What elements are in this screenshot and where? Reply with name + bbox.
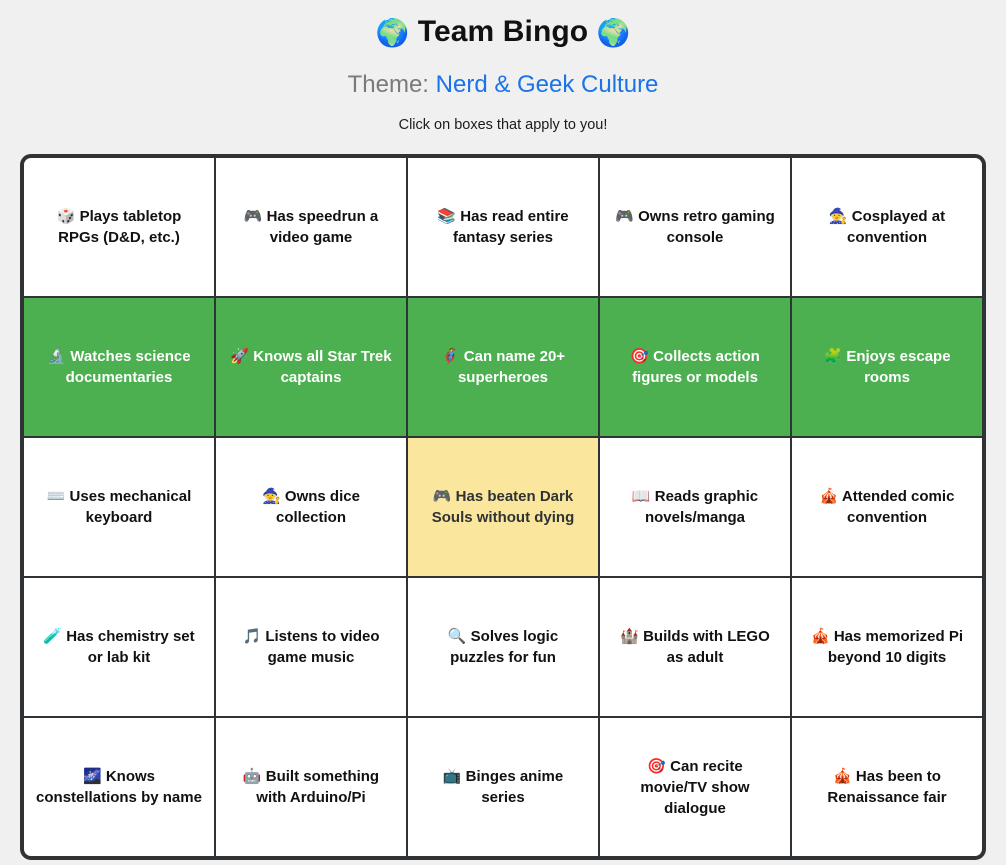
bingo-cell-label: 🧙 Owns dice collection <box>228 486 394 528</box>
bingo-cell-label: 🧩 Enjoys escape rooms <box>804 346 970 388</box>
bingo-cell-text: Knows constellations by name <box>36 768 202 806</box>
bingo-cell-text: Plays tabletop RPGs (D&D, etc.) <box>58 208 181 246</box>
bingo-cell[interactable]: 📺 Binges anime series <box>408 718 598 856</box>
bingo-cell[interactable]: 🎯 Can recite movie/TV show dialogue <box>600 718 790 856</box>
bingo-cell-label: 🎯 Collects action figures or models <box>612 346 778 388</box>
bingo-cell-text: Cosplayed at convention <box>847 208 945 246</box>
bingo-cell-label: 📖 Reads graphic novels/manga <box>612 486 778 528</box>
circus-tent-icon: 🎪 <box>811 628 830 645</box>
bingo-cell[interactable]: 🔬 Watches science documentaries <box>24 298 214 436</box>
bingo-cell[interactable]: 🎮 Has beaten Dark Souls without dying <box>408 438 598 576</box>
video-game-controller-icon: 🎮 <box>433 488 452 505</box>
mage-icon: 🧙 <box>262 488 281 505</box>
keyboard-icon: ⌨️ <box>47 488 66 505</box>
bingo-cell-text: Enjoys escape rooms <box>846 348 950 386</box>
television-icon: 📺 <box>443 768 462 785</box>
bingo-cell-label: 🤖 Built something with Arduino/Pi <box>228 766 394 808</box>
page-title-text: Team Bingo <box>418 15 588 48</box>
bingo-cell-label: ⌨️ Uses mechanical keyboard <box>36 486 202 528</box>
globe-icon-right: 🌍 <box>597 18 631 48</box>
board-container: 🎲 Plays tabletop RPGs (D&D, etc.)🎮 Has s… <box>20 154 986 860</box>
bingo-cell[interactable]: 🎮 Has speedrun a video game <box>216 158 406 296</box>
circus-tent-icon: 🎪 <box>833 768 852 785</box>
video-game-controller-icon: 🎮 <box>615 208 634 225</box>
bingo-cell-label: 🎮 Owns retro gaming console <box>612 206 778 248</box>
theme-line: Theme: Nerd & Geek Culture <box>348 51 659 99</box>
magnifying-glass-icon: 🔍 <box>448 628 467 645</box>
bingo-cell-text: Collects action figures or models <box>632 348 760 386</box>
bingo-cell[interactable]: 🚀 Knows all Star Trek captains <box>216 298 406 436</box>
video-game-controller-icon: 🎮 <box>244 208 263 225</box>
bingo-cell-label: 🔍 Solves logic puzzles for fun <box>420 626 586 668</box>
bingo-cell-text: Watches science documentaries <box>66 348 191 386</box>
bingo-cell-label: 🚀 Knows all Star Trek captains <box>228 346 394 388</box>
bingo-cell[interactable]: 🎪 Attended comic convention <box>792 438 982 576</box>
castle-icon: 🏰 <box>620 628 639 645</box>
bingo-cell[interactable]: 📖 Reads graphic novels/manga <box>600 438 790 576</box>
bingo-cell-text: Listens to video game music <box>265 628 379 666</box>
books-icon: 📚 <box>437 208 456 225</box>
bingo-cell-text: Has read entire fantasy series <box>453 208 569 246</box>
bingo-cell[interactable]: 🧙 Cosplayed at convention <box>792 158 982 296</box>
bingo-cell[interactable]: 📚 Has read entire fantasy series <box>408 158 598 296</box>
bingo-cell-text: Binges anime series <box>466 768 564 806</box>
test-tube-icon: 🧪 <box>43 628 62 645</box>
bingo-cell[interactable]: 🎪 Has memorized Pi beyond 10 digits <box>792 578 982 716</box>
musical-note-icon: 🎵 <box>242 628 261 645</box>
bingo-cell-text: Builds with LEGO as adult <box>643 628 770 666</box>
microscope-icon: 🔬 <box>47 348 66 365</box>
bingo-cell-text: Reads graphic novels/manga <box>645 488 758 526</box>
bingo-cell-label: 🎵 Listens to video game music <box>228 626 394 668</box>
page-title: 🌍 Team Bingo 🌍 <box>376 0 631 51</box>
bingo-cell-text: Built something with Arduino/Pi <box>256 768 379 806</box>
bingo-cell-text: Has beaten Dark Souls without dying <box>432 488 575 526</box>
bingo-cell-label: 🎯 Can recite movie/TV show dialogue <box>612 756 778 819</box>
bingo-cell[interactable]: 🏰 Builds with LEGO as adult <box>600 578 790 716</box>
milky-way-icon: 🌌 <box>83 768 102 785</box>
bingo-cell[interactable]: 🎯 Collects action figures or models <box>600 298 790 436</box>
bingo-cell-text: Attended comic convention <box>842 488 955 526</box>
globe-icon-left: 🌍 <box>376 18 410 48</box>
rocket-icon: 🚀 <box>230 348 249 365</box>
mage-icon: 🧙 <box>829 208 848 225</box>
bingo-cell-text: Owns retro gaming console <box>638 208 775 246</box>
robot-icon: 🤖 <box>243 768 262 785</box>
bingo-cell-text: Knows all Star Trek captains <box>253 348 391 386</box>
instruction-text: Click on boxes that apply to you! <box>399 99 608 134</box>
bingo-cell-label: 🎮 Has speedrun a video game <box>228 206 394 248</box>
bingo-cell-label: 🎲 Plays tabletop RPGs (D&D, etc.) <box>36 206 202 248</box>
theme-label: Theme: <box>348 71 429 98</box>
bingo-cell-label: 🎪 Has memorized Pi beyond 10 digits <box>804 626 970 668</box>
bingo-cell-text: Uses mechanical keyboard <box>70 488 192 526</box>
bingo-cell[interactable]: 🎵 Listens to video game music <box>216 578 406 716</box>
bingo-board: 🎲 Plays tabletop RPGs (D&D, etc.)🎮 Has s… <box>20 154 986 860</box>
bingo-cell-text: Owns dice collection <box>276 488 360 526</box>
game-die-icon: 🎲 <box>57 208 76 225</box>
circus-tent-icon: 🎪 <box>820 488 839 505</box>
bingo-cell[interactable]: 🔍 Solves logic puzzles for fun <box>408 578 598 716</box>
bingo-cell-label: 🎪 Has been to Renaissance fair <box>804 766 970 808</box>
puzzle-piece-icon: 🧩 <box>823 348 842 365</box>
bingo-cell-text: Solves logic puzzles for fun <box>450 628 558 666</box>
bingo-cell[interactable]: 🧪 Has chemistry set or lab kit <box>24 578 214 716</box>
bingo-cell-label: 🔬 Watches science documentaries <box>36 346 202 388</box>
bingo-cell-label: 🧙 Cosplayed at convention <box>804 206 970 248</box>
bingo-cell[interactable]: 🎲 Plays tabletop RPGs (D&D, etc.) <box>24 158 214 296</box>
bingo-page: 🌍 Team Bingo 🌍 Theme: Nerd & Geek Cultur… <box>0 0 1006 865</box>
bingo-cell-label: 📚 Has read entire fantasy series <box>420 206 586 248</box>
dart-target-icon: 🎯 <box>647 758 666 775</box>
dart-target-icon: 🎯 <box>630 348 649 365</box>
bingo-cell-text: Has memorized Pi beyond 10 digits <box>828 628 963 666</box>
theme-value: Nerd & Geek Culture <box>436 71 659 98</box>
bingo-cell[interactable]: 🎮 Owns retro gaming console <box>600 158 790 296</box>
bingo-cell-text: Has speedrun a video game <box>267 208 379 246</box>
bingo-cell[interactable]: ⌨️ Uses mechanical keyboard <box>24 438 214 576</box>
open-book-icon: 📖 <box>632 488 651 505</box>
bingo-cell[interactable]: 🎪 Has been to Renaissance fair <box>792 718 982 856</box>
bingo-cell[interactable]: 🌌 Knows constellations by name <box>24 718 214 856</box>
bingo-cell[interactable]: 🧙 Owns dice collection <box>216 438 406 576</box>
bingo-cell[interactable]: 🧩 Enjoys escape rooms <box>792 298 982 436</box>
bingo-cell-label: 🧪 Has chemistry set or lab kit <box>36 626 202 668</box>
bingo-cell[interactable]: 🤖 Built something with Arduino/Pi <box>216 718 406 856</box>
bingo-cell-label: 🎮 Has beaten Dark Souls without dying <box>420 486 586 528</box>
bingo-cell-label: 🦸 Can name 20+ superheroes <box>420 346 586 388</box>
bingo-cell-label: 🏰 Builds with LEGO as adult <box>612 626 778 668</box>
superhero-icon: 🦸 <box>441 348 460 365</box>
bingo-cell-text: Can name 20+ superheroes <box>458 348 565 386</box>
bingo-cell-label: 🌌 Knows constellations by name <box>36 766 202 808</box>
bingo-cell-label: 🎪 Attended comic convention <box>804 486 970 528</box>
bingo-cell-label: 📺 Binges anime series <box>420 766 586 808</box>
bingo-cell-text: Has chemistry set or lab kit <box>66 628 194 666</box>
bingo-cell[interactable]: 🦸 Can name 20+ superheroes <box>408 298 598 436</box>
